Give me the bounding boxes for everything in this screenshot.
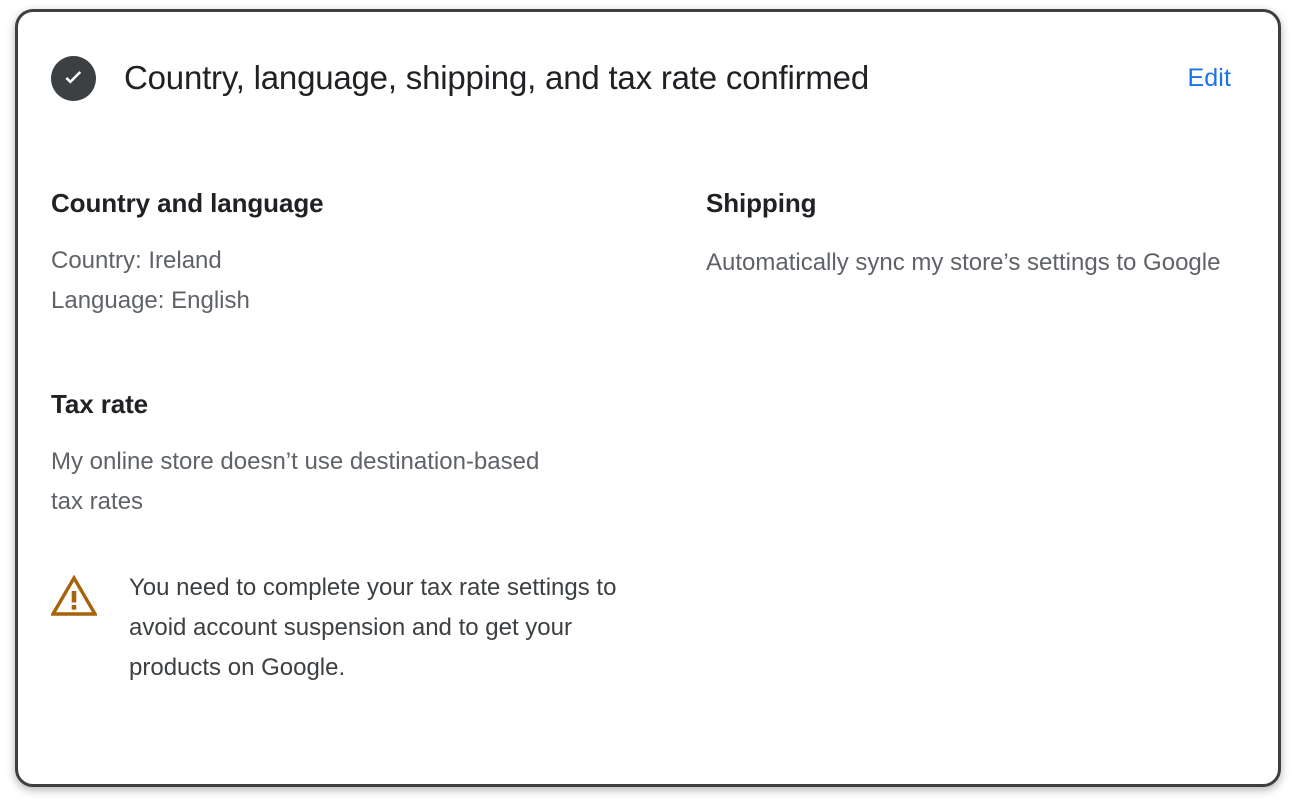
section-tax-rate: Tax rate My online store doesn’t use des… <box>51 388 671 688</box>
edit-button[interactable]: Edit <box>1188 63 1231 93</box>
section-title-shipping: Shipping <box>706 187 1245 219</box>
country-value: Country: Ireland <box>51 247 222 274</box>
section-shipping: Shipping Automatically sync my store’s s… <box>706 187 1245 283</box>
language-value: Language: English <box>51 287 250 314</box>
page-title: Country, language, shipping, and tax rat… <box>124 58 1188 98</box>
check-circle-filled-icon <box>51 56 96 101</box>
section-title-country-and-language: Country and language <box>51 187 671 219</box>
screen: Country, language, shipping, and tax rat… <box>0 0 1296 800</box>
card-body: Country and language Country: Ireland La… <box>51 187 1245 764</box>
section-title-tax-rate: Tax rate <box>51 388 671 420</box>
card-header: Country, language, shipping, and tax rat… <box>18 12 1278 144</box>
country-language-values: Country: Ireland Language: English <box>51 241 611 321</box>
shipping-value: Automatically sync my store’s settings t… <box>706 243 1236 283</box>
tax-rate-value: My online store doesn’t use destination-… <box>51 442 571 522</box>
right-column: Shipping Automatically sync my store’s s… <box>671 187 1245 283</box>
tax-rate-warning: You need to complete your tax rate setti… <box>51 568 671 688</box>
section-country-and-language: Country and language Country: Ireland La… <box>51 187 671 321</box>
warning-message: You need to complete your tax rate setti… <box>129 568 619 688</box>
left-column: Country and language Country: Ireland La… <box>51 187 671 688</box>
confirmation-card: Country, language, shipping, and tax rat… <box>15 9 1281 787</box>
warning-triangle-icon <box>51 575 97 617</box>
